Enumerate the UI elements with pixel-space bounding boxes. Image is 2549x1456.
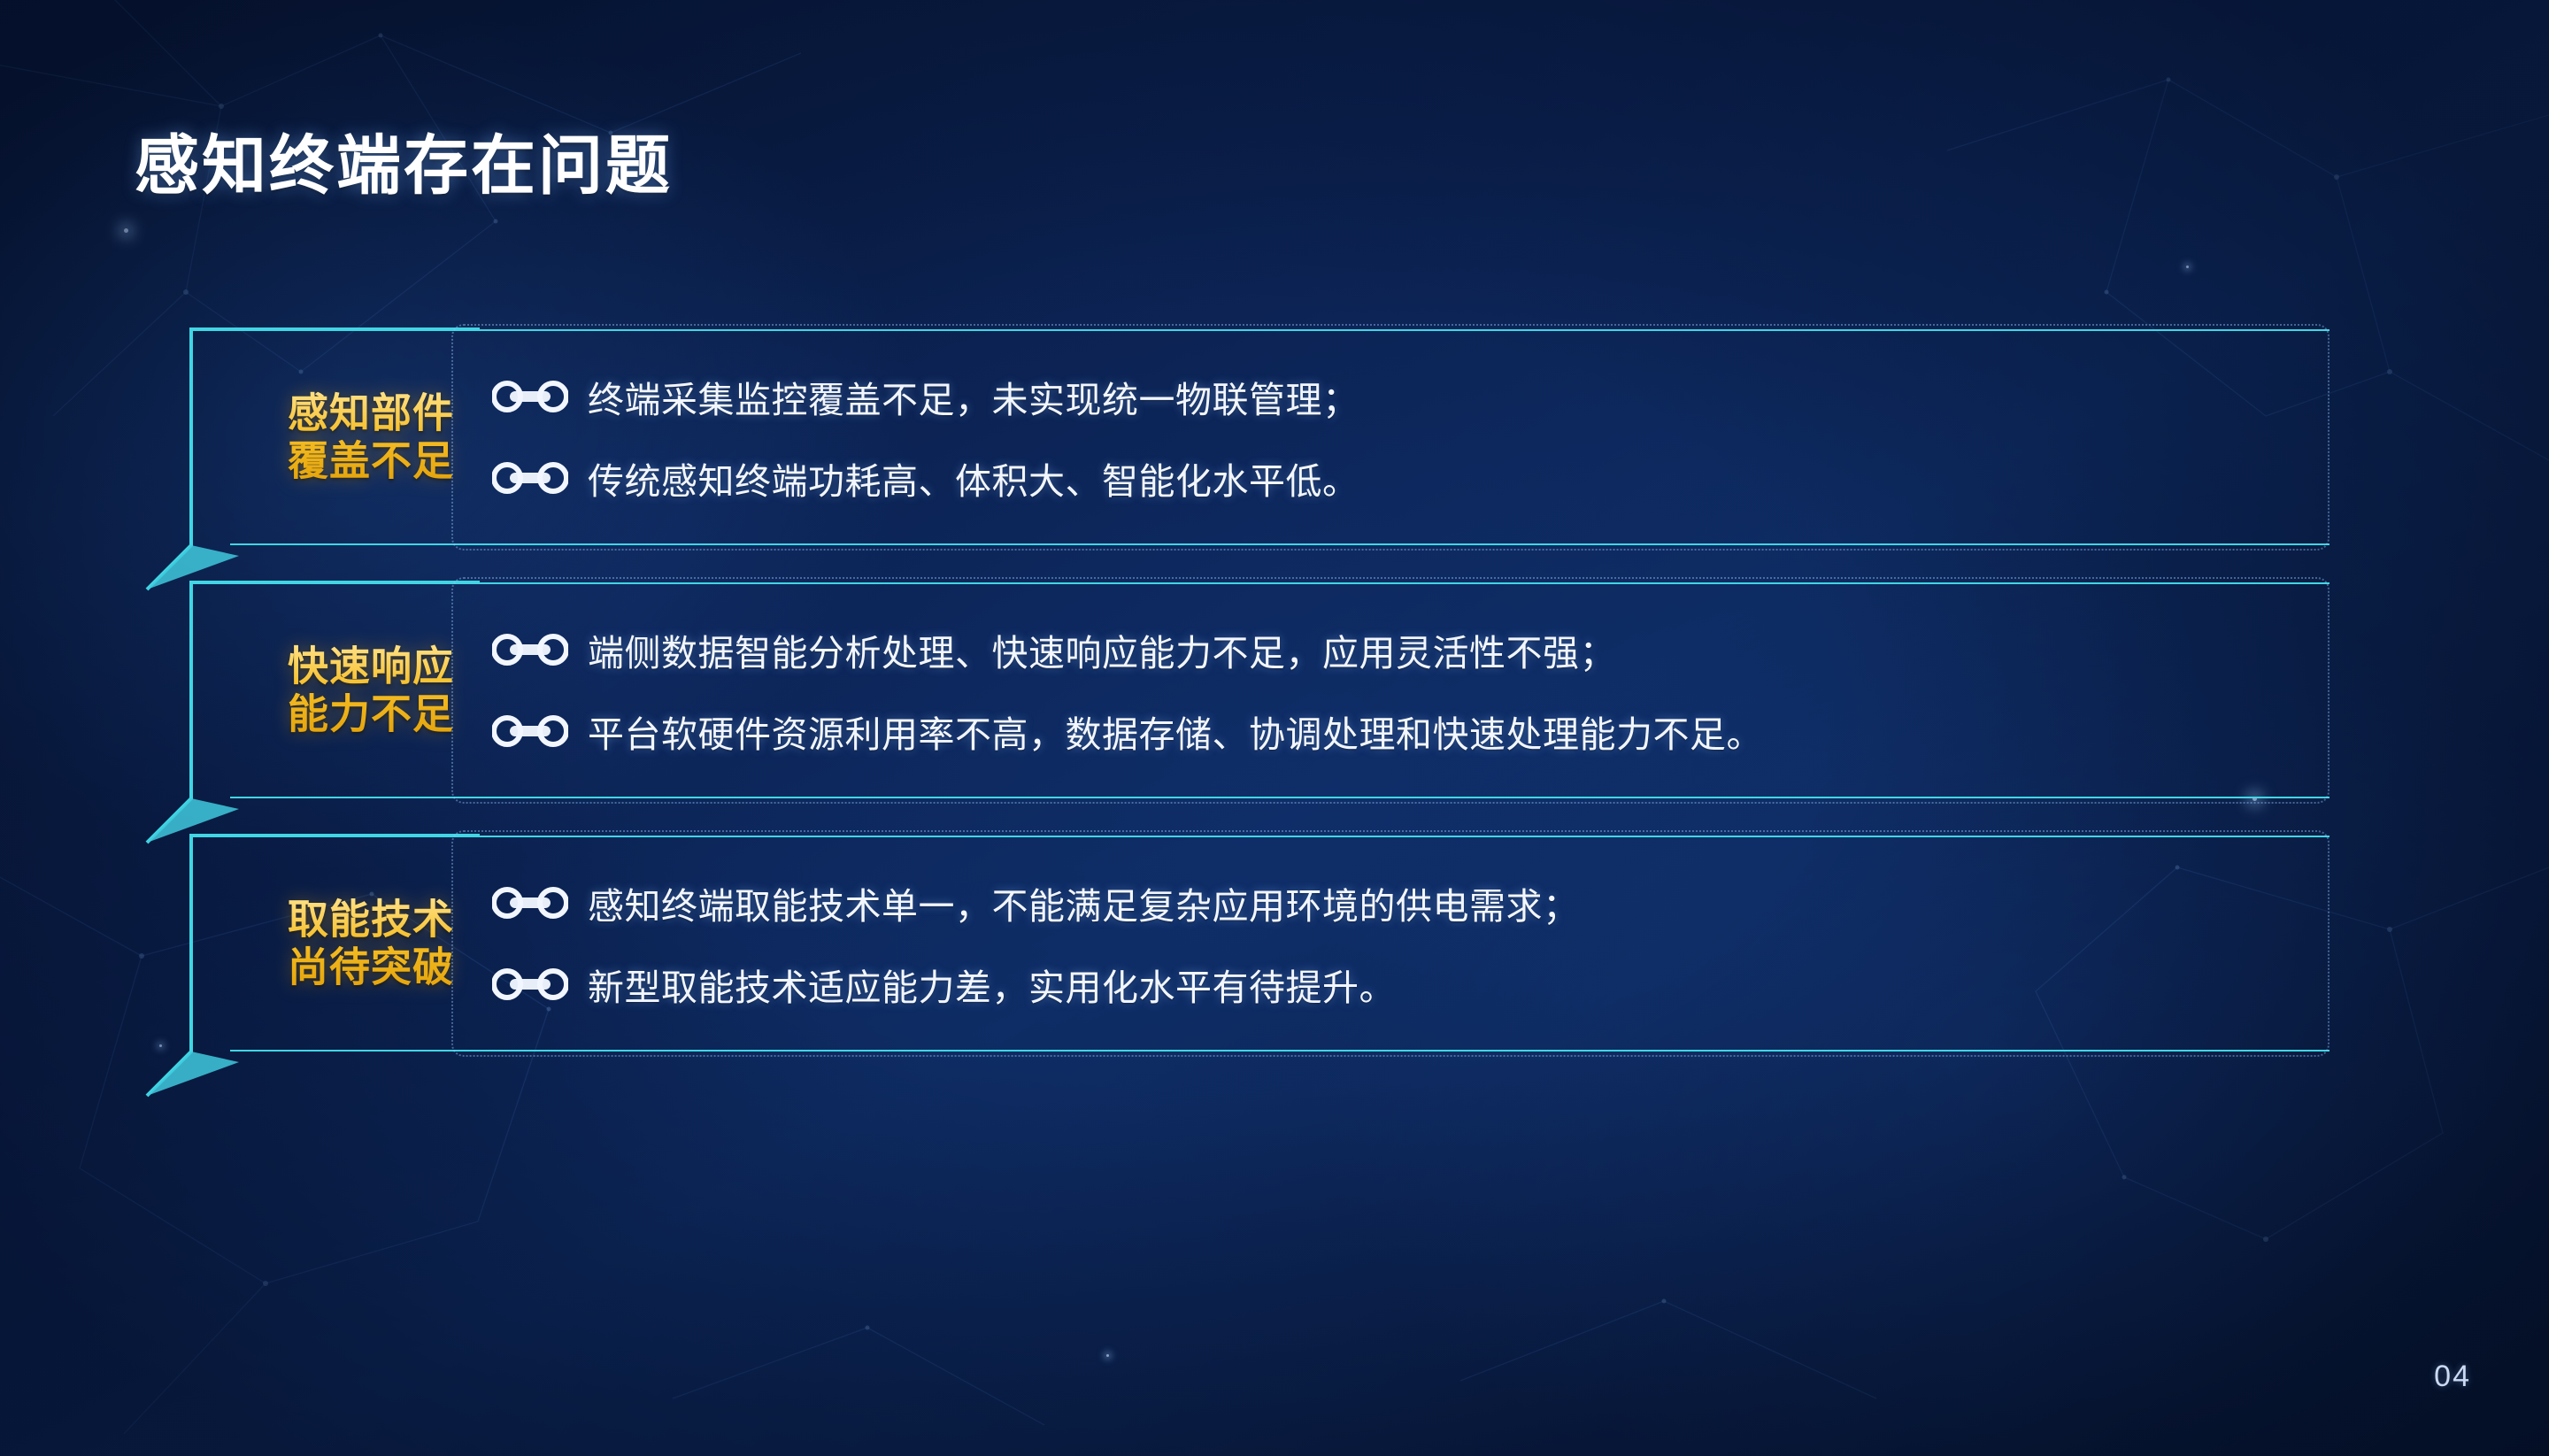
bullet-text: 感知终端取能技术单一，不能满足复杂应用环境的供电需求； [588,876,1580,929]
dumbbell-bullet-icon [492,379,568,414]
card-label: 感知部件 覆盖不足 [260,389,481,486]
bullet-text: 终端采集监控覆盖不足，未实现统一物联管理； [588,370,1359,423]
card-bullet-panel: 终端采集监控覆盖不足，未实现统一物联管理； 传统感知终端功耗高、体积大、智能化水… [451,324,2330,551]
bullet-text: 新型取能技术适应能力差，实用化水平有待提升。 [588,958,1396,1011]
card-bullet-panel: 端侧数据智能分析处理、快速响应能力不足，应用灵活性不强； 平台软硬件资源利用率不… [451,577,2330,804]
problem-card[interactable]: 感知部件 覆盖不足 终端采集监控覆盖不足，未实现统一物联管理； [188,329,2330,545]
dumbbell-bullet-icon [492,632,568,667]
bullet-text: 传统感知终端功耗高、体积大、智能化水平低。 [588,451,1359,505]
dumbbell-bullet-icon [492,713,568,749]
card-label-line2: 尚待突破 [260,944,481,991]
problem-card[interactable]: 取能技术 尚待突破 感知终端取能技术单一，不能满足复杂应用环境的供电需求； [188,836,2330,1052]
bullet-item[interactable]: 端侧数据智能分析处理、快速响应能力不足，应用灵活性不强； [492,609,2328,690]
bullet-item[interactable]: 终端采集监控覆盖不足，未实现统一物联管理； [492,356,2328,437]
card-label-line1: 取能技术 [260,896,481,944]
bullet-item[interactable]: 平台软硬件资源利用率不高，数据存储、协调处理和快速处理能力不足。 [492,690,2328,772]
card-label-line1: 快速响应 [260,643,481,690]
card-label: 快速响应 能力不足 [260,643,481,739]
problem-card-list: 感知部件 覆盖不足 终端采集监控覆盖不足，未实现统一物联管理； [188,329,2330,1089]
bullet-text: 端侧数据智能分析处理、快速响应能力不足，应用灵活性不强； [588,623,1616,676]
page-number: 04 [2434,1360,2471,1394]
page-title: 感知终端存在问题 [135,113,673,207]
dumbbell-bullet-icon [492,885,568,921]
card-label-line2: 能力不足 [260,690,481,738]
card-label-line1: 感知部件 [260,389,481,437]
bullet-item[interactable]: 感知终端取能技术单一，不能满足复杂应用环境的供电需求； [492,862,2328,944]
bullet-item[interactable]: 传统感知终端功耗高、体积大、智能化水平低。 [492,437,2328,519]
dumbbell-bullet-icon [492,460,568,496]
card-label-line2: 覆盖不足 [260,437,481,485]
card-bullet-panel: 感知终端取能技术单一，不能满足复杂应用环境的供电需求； 新型取能技术适应能力差，… [451,830,2330,1057]
bullet-text: 平台软硬件资源利用率不高，数据存储、协调处理和快速处理能力不足。 [588,705,1763,758]
dumbbell-bullet-icon [492,967,568,1002]
card-label: 取能技术 尚待突破 [260,896,481,992]
bullet-item[interactable]: 新型取能技术适应能力差，实用化水平有待提升。 [492,944,2328,1025]
problem-card[interactable]: 快速响应 能力不足 端侧数据智能分析处理、快速响应能力不足，应用灵活性不强； [188,582,2330,798]
